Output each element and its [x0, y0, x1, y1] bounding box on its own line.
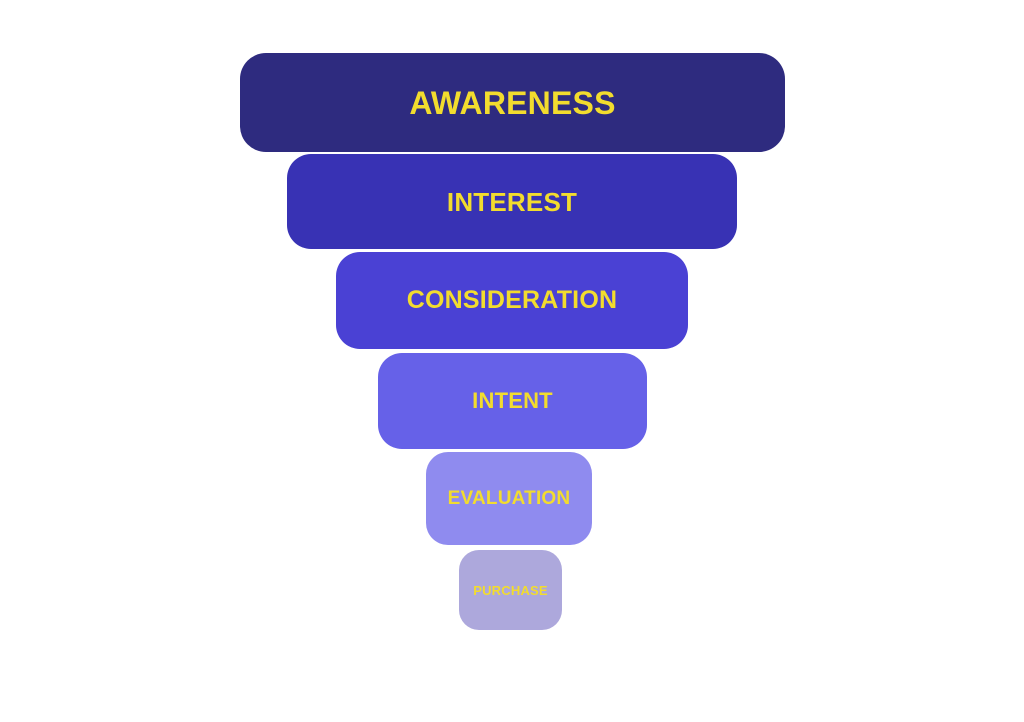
funnel-stage-purchase[interactable]: PURCHASE — [459, 550, 562, 630]
funnel-stage-evaluation[interactable]: EVALUATION — [426, 452, 592, 545]
funnel-stage-label: AWARENESS — [409, 87, 615, 119]
funnel-stage-label: CONSIDERATION — [407, 288, 617, 313]
funnel-stage-label: EVALUATION — [448, 489, 571, 508]
funnel-stage-label: PURCHASE — [473, 584, 548, 597]
funnel-stage-label: INTENT — [472, 390, 553, 412]
funnel-stage-interest[interactable]: INTEREST — [287, 154, 737, 249]
funnel-diagram: AWARENESS INTEREST CONSIDERATION INTENT … — [0, 0, 1024, 722]
funnel-stage-label: INTEREST — [447, 189, 577, 215]
funnel-stage-consideration[interactable]: CONSIDERATION — [336, 252, 688, 349]
funnel-stage-intent[interactable]: INTENT — [378, 353, 647, 449]
funnel-stage-awareness[interactable]: AWARENESS — [240, 53, 785, 152]
